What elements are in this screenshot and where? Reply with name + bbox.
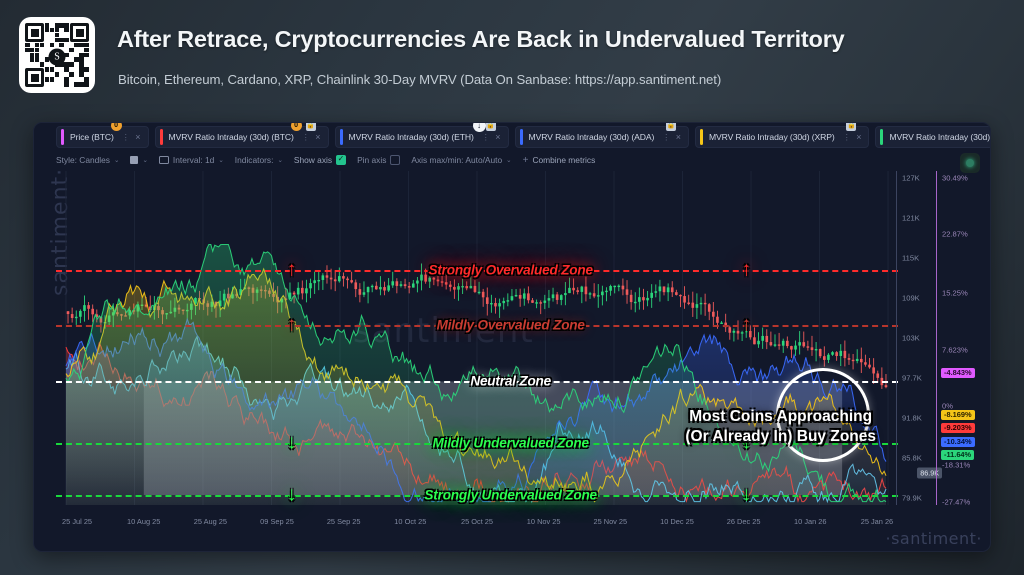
tab-close-icon[interactable]: ×	[856, 132, 861, 142]
metric-tab-3[interactable]: MVRV Ratio Intraday (30d) (ADA)⋮×🔒	[515, 126, 689, 148]
callout-line-2: (Or Already In) Buy Zones	[685, 427, 876, 447]
price-axis-tick: 79.9K	[902, 494, 922, 503]
tab-color-bar	[160, 129, 163, 145]
style-label: Style: Candles	[56, 155, 110, 165]
lock-icon[interactable]: 🔒	[846, 122, 856, 131]
date-axis-tick: 26 Dec 25	[727, 517, 761, 526]
date-axis-tick: 10 Jan 26	[794, 517, 826, 526]
tab-color-bar	[520, 129, 523, 145]
metric-tab-strip[interactable]: Price (BTC)⋮×0MVRV Ratio Intraday (30d) …	[34, 123, 990, 151]
date-axis-tick: 25 Aug 25	[194, 517, 227, 526]
tab-color-bar	[61, 129, 64, 145]
callout-line-1: Most Coins Approaching	[685, 407, 876, 427]
chart-panel: Price (BTC)⋮×0MVRV Ratio Intraday (30d) …	[33, 122, 991, 552]
tab-label: Price (BTC)	[70, 132, 114, 142]
price-axis-tick: 109K	[902, 293, 920, 302]
chevron-down-icon: ⌄	[218, 156, 223, 164]
color-swatch-icon	[130, 156, 138, 164]
price-axis-tick: 103K	[902, 334, 920, 343]
tab-alert-badge[interactable]: 0	[111, 122, 122, 131]
pin-axis-checkbox[interactable]	[390, 155, 400, 165]
lock-icon[interactable]: 🔒	[306, 122, 316, 131]
chevron-down-icon: ⌄	[114, 156, 119, 164]
page-title: After Retrace, Cryptocurrencies Are Back…	[117, 26, 845, 53]
show-axis-label: Show axis	[294, 155, 332, 165]
date-axis-tick: 10 Dec 25	[660, 517, 694, 526]
axis-minmax-selector[interactable]: Axis max/min: Auto/Auto ⌄	[411, 155, 511, 165]
date-axis-tick: 25 Nov 25	[593, 517, 627, 526]
date-axis-tick: 25 Oct 25	[461, 517, 493, 526]
mvrv-axis[interactable]: 30.49%22.87%15.25%7.623%0%-18.31%-27.47%…	[936, 171, 988, 505]
axis-minmax-label: Axis max/min: Auto/Auto	[411, 155, 502, 165]
combine-metrics-button[interactable]: + Combine metrics	[523, 155, 596, 166]
price-axis-tick: 115K	[902, 253, 919, 262]
interval-label: Interval: 1d	[173, 155, 214, 165]
tab-alert-badge[interactable]: 0	[291, 122, 302, 131]
tab-label: MVRV Ratio Intraday (30d) (LINK)	[889, 132, 991, 142]
metric-tab-1[interactable]: MVRV Ratio Intraday (30d) (BTC)⋮×0🔒	[155, 126, 329, 148]
chevron-down-icon: ⌄	[506, 156, 511, 164]
page-header: S After Retrace, Cryptocurrencies Are Ba…	[0, 0, 1024, 118]
date-axis: 25 Jul 2510 Aug 2525 Aug 2509 Sep 2525 S…	[56, 517, 898, 531]
pin-axis-toggle[interactable]: Pin axis	[357, 155, 400, 165]
tab-label: MVRV Ratio Intraday (30d) (BTC)	[169, 132, 294, 142]
plus-icon: +	[523, 155, 529, 166]
tab-label: MVRV Ratio Intraday (30d) (XRP)	[709, 132, 835, 142]
metric-tab-4[interactable]: MVRV Ratio Intraday (30d) (XRP)⋮×🔒	[695, 126, 869, 148]
current-value-badge-BTC: -9.203%	[941, 423, 975, 433]
tab-label: MVRV Ratio Intraday (30d) (ETH)	[349, 132, 474, 142]
show-axis-toggle[interactable]: Show axis	[294, 155, 346, 165]
settings-dot-button[interactable]	[960, 153, 980, 173]
metric-tab-2[interactable]: MVRV Ratio Intraday (30d) (ETH)⋮×🔒↓	[335, 126, 509, 148]
combine-metrics-label: Combine metrics	[532, 155, 595, 165]
date-axis-tick: 09 Sep 25	[260, 517, 294, 526]
plot-area[interactable]: santiment· santiment Strongly Overvalued…	[56, 171, 898, 505]
current-value-badge-BTC-price: -4.843%	[941, 368, 975, 378]
date-axis-tick: 10 Nov 25	[527, 517, 561, 526]
chevron-down-icon: ⌄	[142, 156, 147, 164]
metric-tab-0[interactable]: Price (BTC)⋮×0	[56, 126, 149, 148]
show-axis-checkbox[interactable]	[336, 155, 346, 165]
price-axis-tick: 85.8K	[902, 454, 922, 463]
lock-icon[interactable]: 🔒	[486, 122, 496, 131]
calendar-icon	[159, 156, 169, 164]
date-axis-tick: 10 Aug 25	[127, 517, 160, 526]
zone-arrow-strongly_overvalued: ↑	[741, 258, 751, 281]
price-axis-tick: 91.8K	[902, 414, 922, 423]
zone-label-mildly_overvalued: Mildly Overvalued Zone	[430, 316, 592, 333]
tab-menu-icon[interactable]: ⋮	[482, 133, 491, 142]
price-axis-tick: 121K	[902, 213, 920, 222]
mvrv-axis-tick: 7.623%	[942, 345, 968, 354]
mvrv-axis-tick: 15.25%	[942, 288, 968, 297]
date-axis-tick: 10 Oct 25	[394, 517, 426, 526]
zone-arrow-strongly_overvalued: ↑	[287, 258, 297, 281]
tab-label: MVRV Ratio Intraday (30d) (ADA)	[529, 132, 655, 142]
tab-color-bar	[340, 129, 343, 145]
date-axis-tick: 25 Jul 25	[62, 517, 92, 526]
tab-menu-icon[interactable]: ⋮	[122, 133, 131, 142]
interval-selector[interactable]: Interval: 1d ⌄	[159, 155, 224, 165]
tab-close-icon[interactable]: ×	[135, 132, 140, 142]
zone-arrow-mildly_overvalued: ↑	[287, 313, 297, 336]
chart-controls-row[interactable]: Style: Candles ⌄ ⌄ Interval: 1d ⌄ Indica…	[56, 151, 595, 169]
zone-label-strongly_overvalued: Strongly Overvalued Zone	[421, 261, 599, 278]
zone-label-strongly_undervalued: Strongly Undervalued Zone	[417, 486, 604, 503]
price-axis-tick: 127K	[902, 173, 920, 182]
mvrv-axis-tick: -18.31%	[942, 460, 970, 469]
mvrv-axis-tick: 30.49%	[942, 173, 968, 182]
tab-menu-icon[interactable]: ⋮	[662, 133, 671, 142]
current-value-badge-XRP: -8.169%	[941, 410, 975, 420]
color-swatch-selector[interactable]: ⌄	[130, 156, 147, 164]
page-subtitle: Bitcoin, Ethereum, Cardano, XRP, Chainli…	[118, 72, 721, 87]
current-value-badge-LINK: -11.64%	[941, 450, 974, 460]
zone-label-neutral: Neutral Zone	[463, 373, 558, 390]
price-axis-tick: 97.7K	[902, 374, 922, 383]
date-axis-tick: 25 Sep 25	[327, 517, 361, 526]
buy-zone-callout: Most Coins Approaching (Or Already In) B…	[685, 407, 876, 447]
date-axis-tick: 25 Jan 26	[861, 517, 893, 526]
tab-menu-icon[interactable]: ⋮	[843, 133, 852, 142]
zone-arrow-strongly_undervalued: ↓	[287, 483, 297, 506]
tab-close-icon[interactable]: ×	[676, 132, 681, 142]
zone-arrow-strongly_undervalued: ↓	[741, 483, 751, 506]
style-selector[interactable]: Style: Candles ⌄	[56, 155, 119, 165]
pin-axis-label: Pin axis	[357, 155, 386, 165]
zone-arrow-mildly_overvalued: ↑	[741, 313, 751, 336]
tab-color-bar	[880, 129, 883, 145]
current-value-badge-ADA: -10.34%	[941, 437, 975, 447]
indicators-label: Indicators:	[235, 155, 274, 165]
metric-tab-5[interactable]: MVRV Ratio Intraday (30d) (LINK)⋮×↓	[875, 126, 991, 148]
lock-icon[interactable]: 🔒	[666, 122, 676, 131]
indicators-selector[interactable]: Indicators: ⌄	[235, 155, 283, 165]
tab-status-icon[interactable]: ↓	[473, 122, 486, 132]
zone-arrow-mildly_undervalued: ↓	[287, 432, 297, 455]
mvrv-axis-tick: 22.87%	[942, 230, 968, 239]
price-axis[interactable]: 127K121K115K109K103K97.7K91.8K85.8K79.9K…	[896, 171, 940, 505]
price-and-mvrv-series	[56, 171, 898, 505]
tab-close-icon[interactable]: ×	[495, 132, 500, 142]
tab-menu-icon[interactable]: ⋮	[302, 133, 311, 142]
tab-color-bar	[700, 129, 703, 145]
qr-code-icon: S	[19, 17, 95, 93]
mvrv-axis-tick: -27.47%	[942, 497, 970, 506]
tab-close-icon[interactable]: ×	[315, 132, 320, 142]
chevron-down-icon: ⌄	[277, 156, 282, 164]
watermark-bottom-right: ·santiment·	[885, 529, 982, 548]
zone-label-mildly_undervalued: Mildly Undervalued Zone	[426, 435, 596, 452]
